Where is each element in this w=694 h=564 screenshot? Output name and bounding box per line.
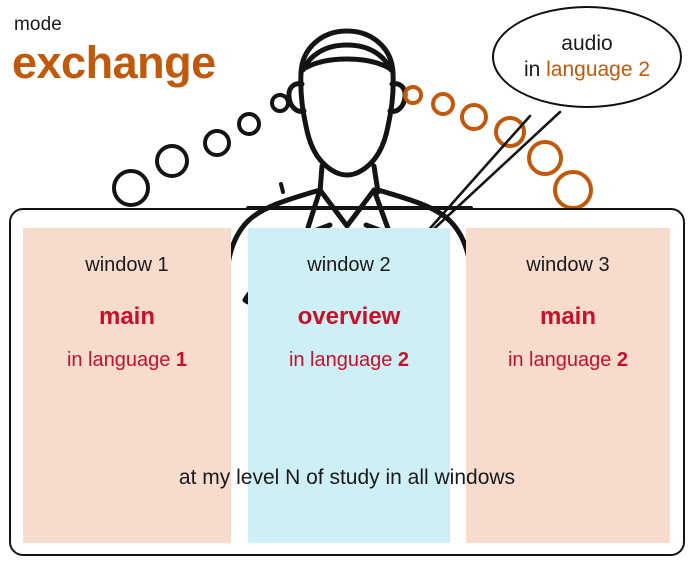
window-column-2[interactable]: window 2 overview in language 2 <box>248 228 450 543</box>
window-column-3[interactable]: window 3 main in language 2 <box>466 228 670 543</box>
bubble-language-highlight: language 2 <box>546 58 650 81</box>
window-2-language-prefix: in language <box>289 349 398 371</box>
windows-columns: window 1 main in language 1 window 2 ove… <box>23 228 670 543</box>
window-3-language-number: 2 <box>617 349 628 371</box>
window-3-language-prefix: in language <box>508 349 617 371</box>
window-2-language-number: 2 <box>398 349 409 371</box>
panel-caption: at my level N of study in all windows <box>0 466 694 490</box>
mode-label: mode <box>14 14 62 36</box>
window-2-kind: overview <box>248 303 450 332</box>
bubble-prefix: in <box>524 58 546 81</box>
bubble-line-language: in language 2 <box>524 57 650 83</box>
window-1-language-number: 1 <box>176 349 187 371</box>
window-3-language: in language 2 <box>466 348 670 372</box>
window-column-1[interactable]: window 1 main in language 1 <box>23 228 231 543</box>
speech-bubble: audio in language 2 <box>492 6 684 110</box>
window-1-language-prefix: in language <box>67 349 176 371</box>
window-1-language: in language 1 <box>23 348 231 372</box>
window-1-title: window 1 <box>23 253 231 277</box>
mode-title: exchange <box>12 40 216 85</box>
window-1-kind: main <box>23 303 231 332</box>
window-3-kind: main <box>466 303 670 332</box>
bubble-line-audio: audio <box>561 31 612 57</box>
window-2-title: window 2 <box>248 253 450 277</box>
window-2-language: in language 2 <box>248 348 450 372</box>
diagram-canvas: mode exchange <box>0 0 694 564</box>
window-3-title: window 3 <box>466 253 670 277</box>
